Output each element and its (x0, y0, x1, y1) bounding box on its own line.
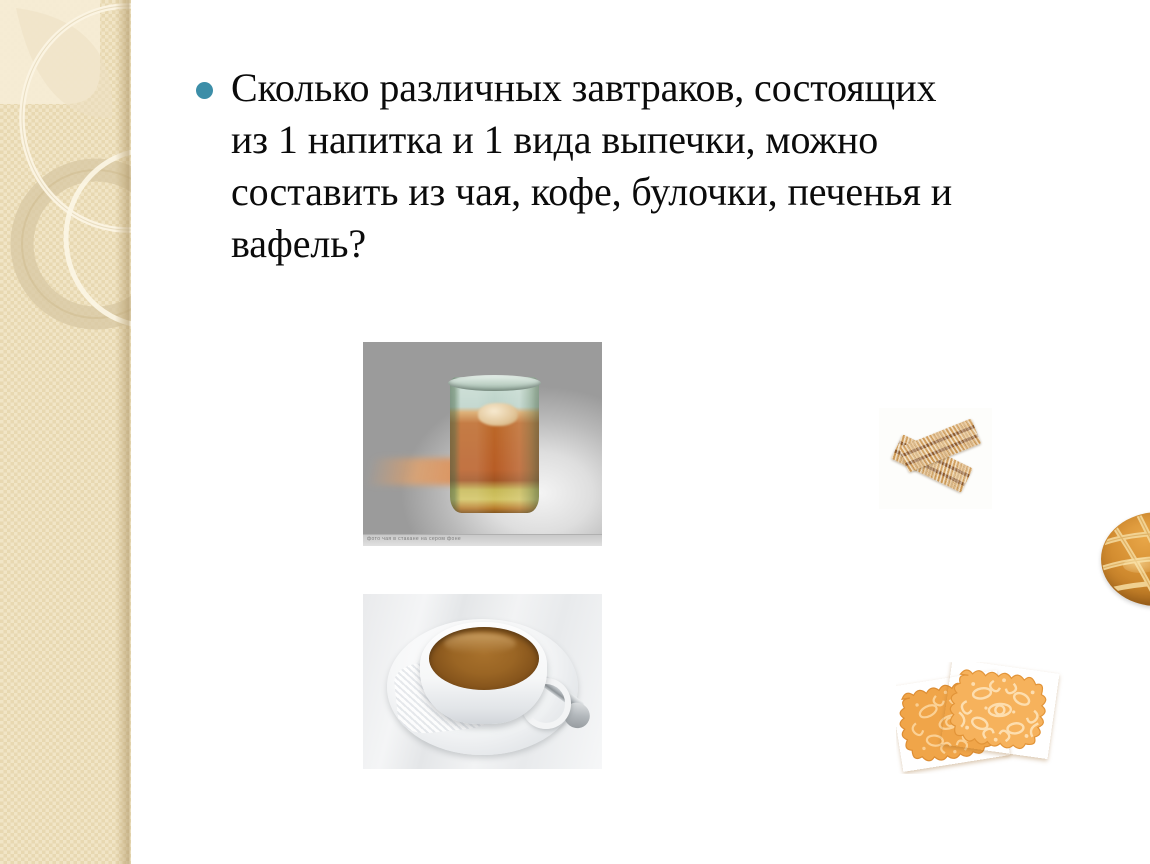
tea-glass-rim (448, 375, 541, 391)
tea-bag-blob (478, 403, 519, 425)
cookie-front-shape-icon (941, 662, 1060, 759)
sidebar-edge-shading (115, 0, 131, 864)
bullet-list-item: Сколько различных завтраков, состоящих и… (196, 62, 956, 270)
tea-caption-strip: фото чая в стакане на сером фоне (363, 534, 602, 546)
image-coffee-cup (363, 594, 602, 769)
image-tea-glass: фото чая в стакане на сером фоне (363, 342, 602, 546)
image-bun (1097, 508, 1150, 612)
cookie-front (941, 662, 1060, 759)
bun-gloss-highlight (1123, 558, 1150, 573)
image-wafers (879, 408, 992, 509)
decorative-sidebar (0, 0, 131, 864)
tea-caption-text: фото чая в стакане на сером фоне (367, 536, 461, 542)
tea-glass-body (450, 377, 538, 514)
slide-canvas: Сколько различных завтраков, состоящих и… (0, 0, 1150, 864)
question-text: Сколько различных завтраков, состоящих и… (231, 62, 956, 270)
coffee-crema-sheen (444, 633, 516, 654)
image-cookies (896, 662, 1068, 774)
sidebar-ornament-icon (0, 0, 131, 864)
slide-content: Сколько различных завтраков, состоящих и… (131, 0, 1150, 864)
bullet-dot-icon (196, 82, 213, 99)
